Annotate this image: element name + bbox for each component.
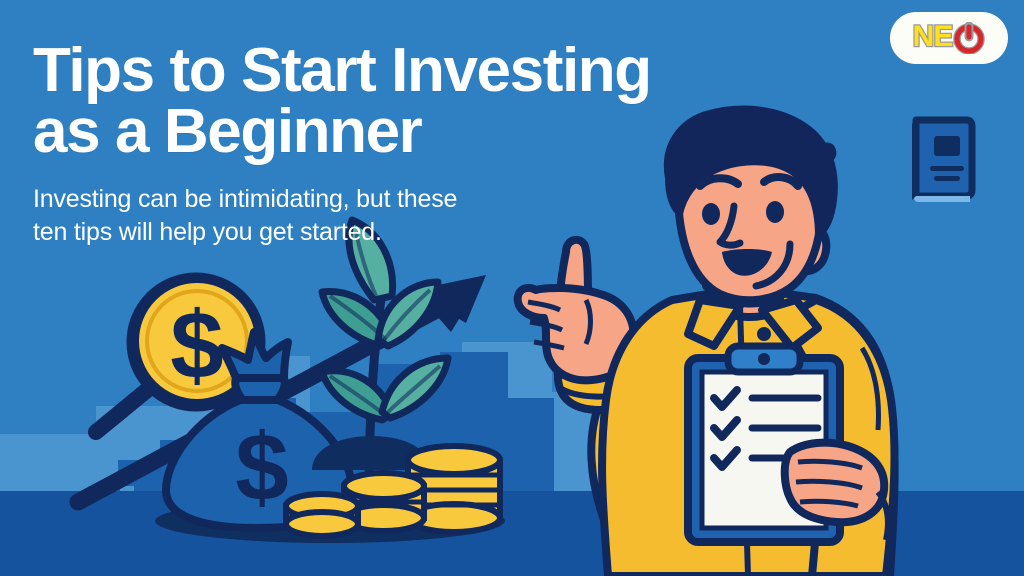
page-subtitle: Investing can be intimidating, but these… [33,183,593,249]
headline-block: Tips to Start Investing as a Beginner In… [33,40,893,249]
logo-wordmark: NE [913,22,953,52]
infographic-banner: $ $ [0,0,1024,576]
brand-logo[interactable]: NE [890,12,1008,64]
power-icon [953,22,985,54]
book-icon [908,112,978,207]
page-title: Tips to Start Investing as a Beginner [33,40,893,163]
